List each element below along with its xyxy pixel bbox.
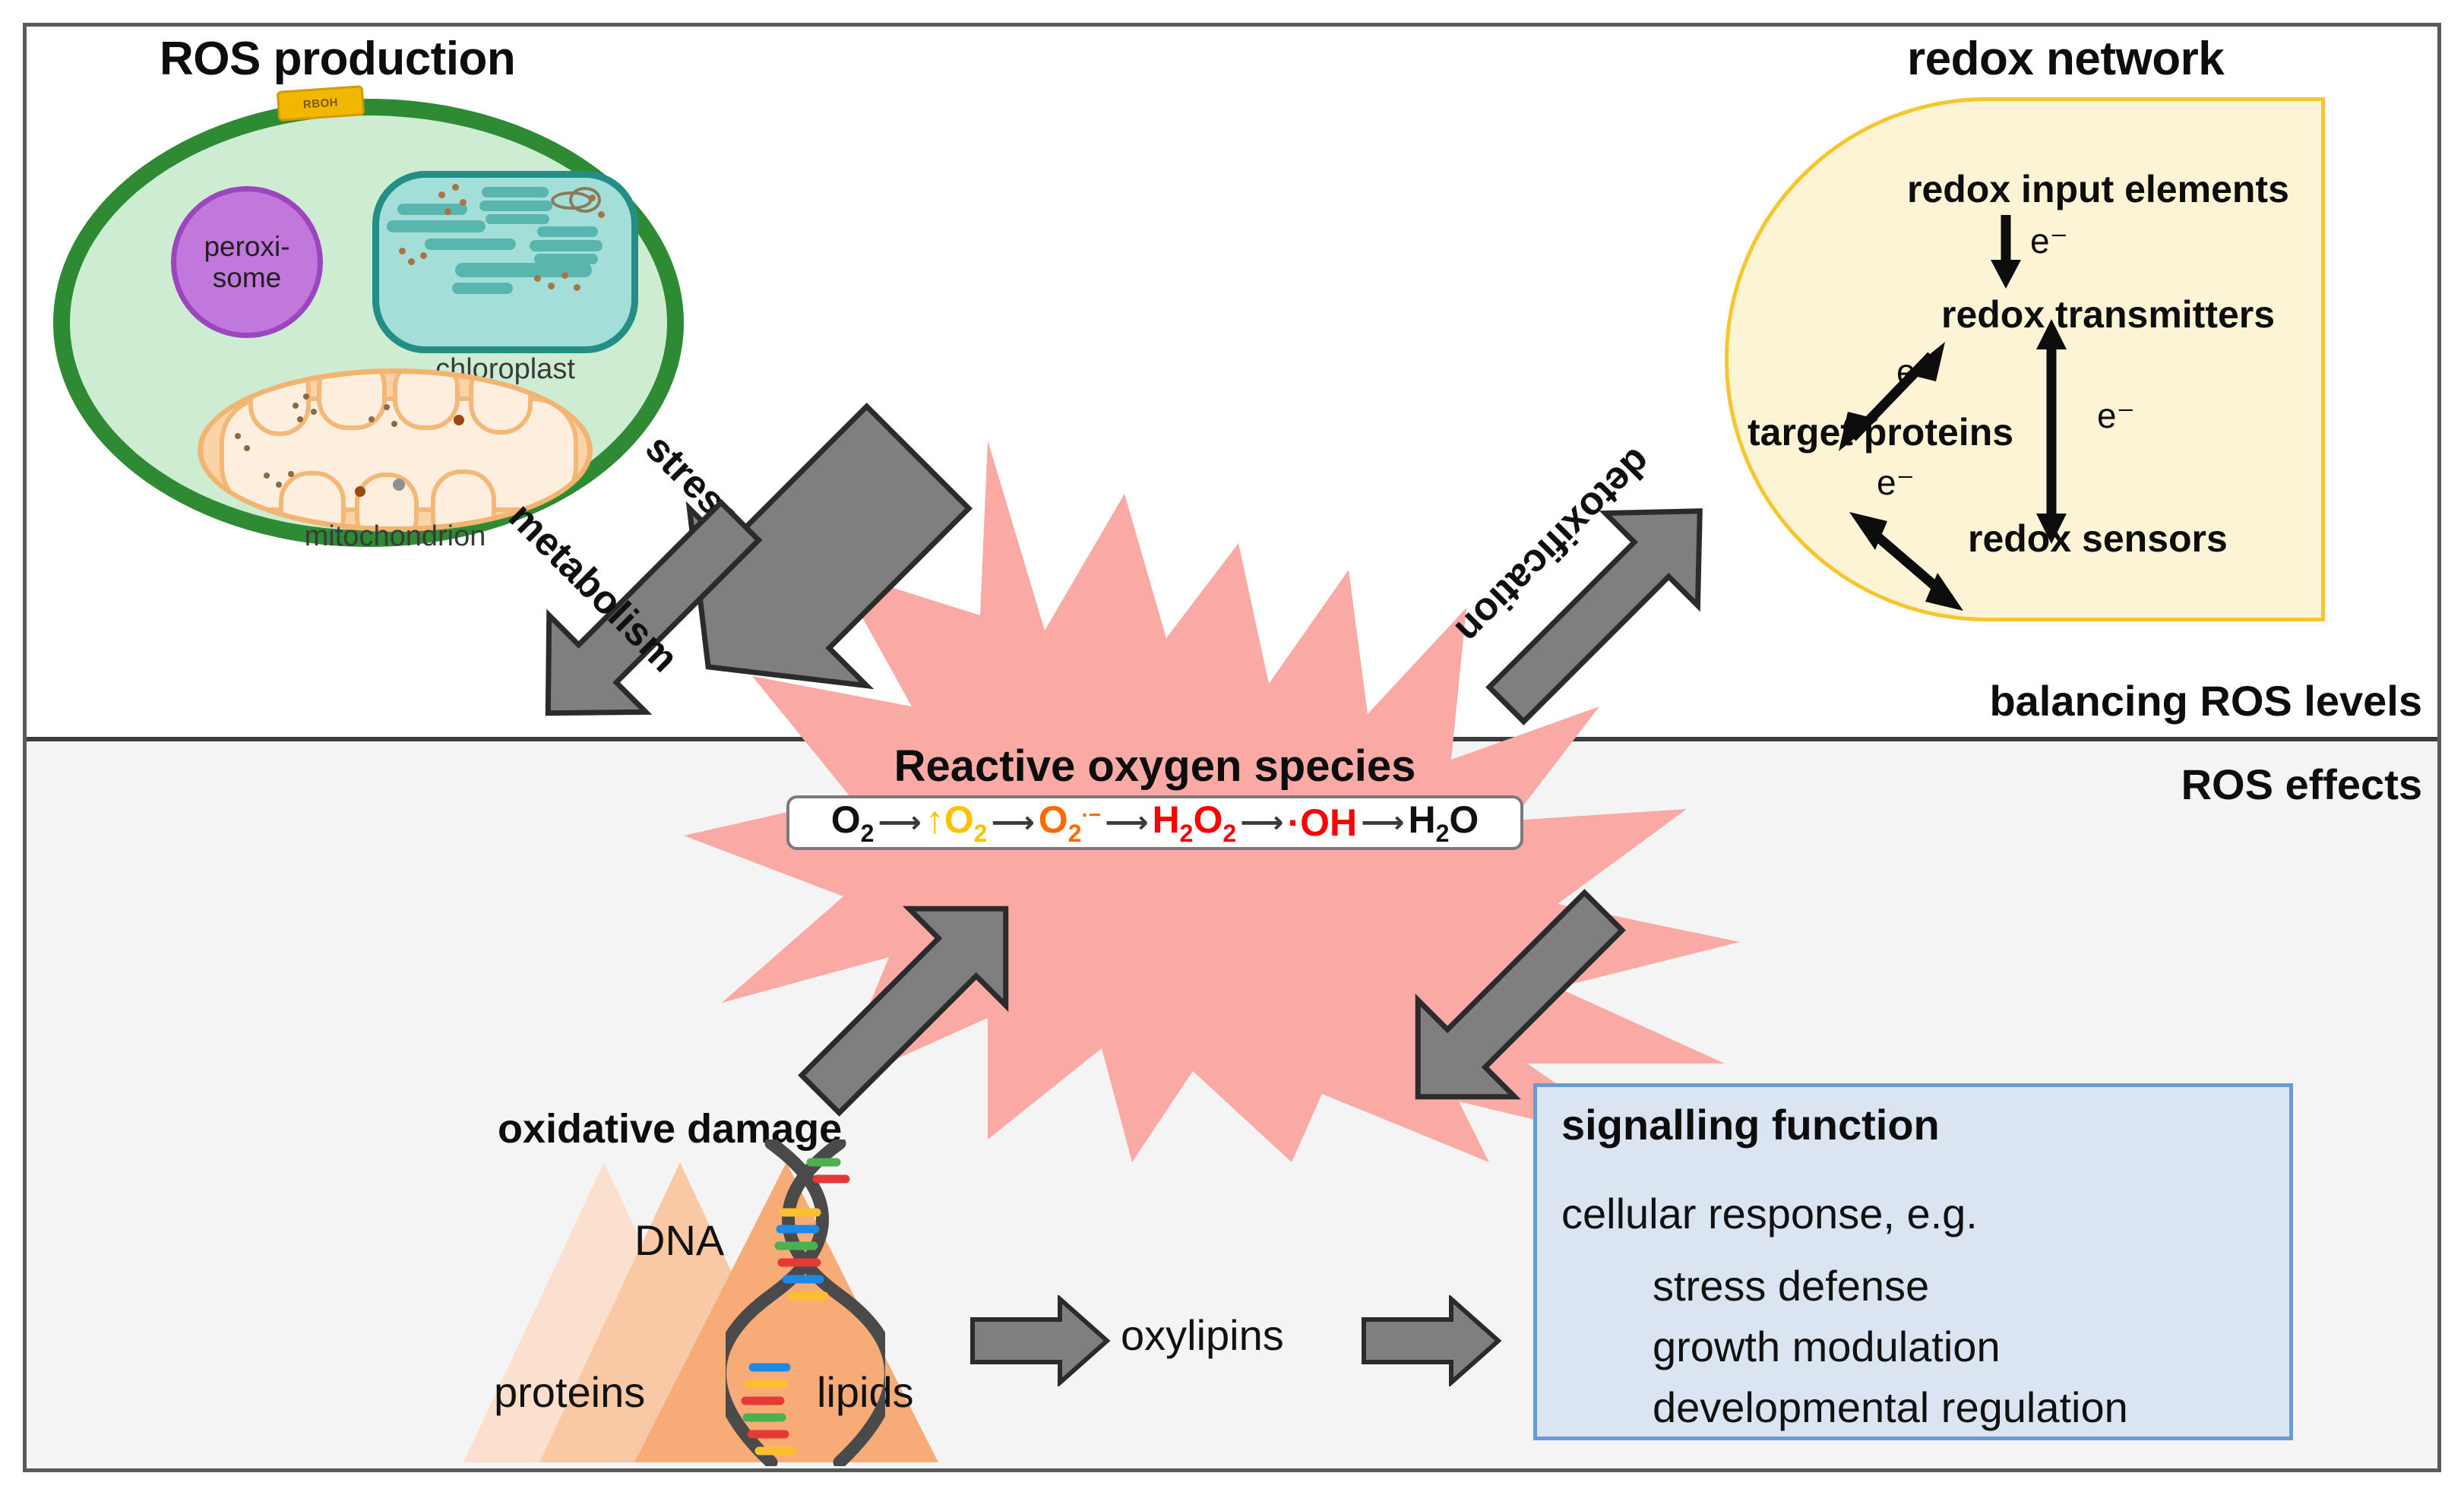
signalling-item-2: developmental regulation xyxy=(1653,1383,2128,1432)
species-h2o2: H2O2 xyxy=(1153,798,1237,848)
species-hydroxyl: ·OH xyxy=(1287,801,1357,845)
heading-redox-network: redox network xyxy=(1907,32,2224,86)
eq-arrow-4: ⟶ xyxy=(1236,805,1287,840)
peroxisome-organelle: peroxi- some xyxy=(171,186,323,338)
signalling-function-title: signalling function xyxy=(1561,1100,1940,1149)
species-superoxide: O2·− xyxy=(1039,798,1101,848)
heading-ros-production: ROS production xyxy=(160,32,515,86)
target-proteins-label: target proteins xyxy=(1748,410,2013,454)
cellular-response-lead: cellular response, e.g. xyxy=(1561,1189,1978,1238)
eq-arrow-5: ⟶ xyxy=(1357,805,1408,840)
peroxisome-label-line1: peroxi- xyxy=(204,231,289,262)
species-water: H2O xyxy=(1408,798,1479,848)
ros-equation: O2⟶↑O2⟶O2·−⟶H2O2⟶·OH⟶H2O xyxy=(786,795,1523,850)
label-balancing-ros-levels: balancing ROS levels xyxy=(1989,676,2422,725)
redox-transmitters-label: redox transmitters xyxy=(1941,292,2275,337)
ros-title: Reactive oxygen species xyxy=(760,741,1550,792)
eq-arrow-1: ⟶ xyxy=(874,805,925,840)
signalling-item-0: stress defense xyxy=(1653,1261,1929,1310)
peroxisome-label-line2: some xyxy=(213,262,281,293)
figure-canvas: ROS production redox network balancing R… xyxy=(0,0,2464,1495)
dna-helix-icon xyxy=(726,1139,885,1466)
species-singlet-o2: ↑O2 xyxy=(925,798,988,848)
rboh-enzyme-label: RBOH xyxy=(277,85,365,122)
triangle-dna-label: DNA xyxy=(634,1215,724,1265)
triangle-proteins-label: proteins xyxy=(494,1367,645,1417)
redox-sensors-label: redox sensors xyxy=(1968,517,2228,561)
chloroplast-organelle xyxy=(372,171,638,353)
eq-arrow-3: ⟶ xyxy=(1101,805,1152,840)
label-ros-effects: ROS effects xyxy=(2181,760,2422,809)
electron-label-right: e⁻ xyxy=(2097,395,2135,436)
electron-label-left: e⁻ xyxy=(1896,351,1934,392)
arrow-to-oxylipins xyxy=(969,1295,1113,1386)
arrow-oxylipins-to-signalling xyxy=(1360,1295,1504,1386)
redox-input-elements-label: redox input elements xyxy=(1907,167,2289,211)
eq-arrow-2: ⟶ xyxy=(987,805,1038,840)
electron-label-bottom: e⁻ xyxy=(1877,462,1915,503)
oxylipins-label: oxylipins xyxy=(1121,1310,1284,1360)
signalling-item-1: growth modulation xyxy=(1653,1322,2001,1371)
electron-label-top: e⁻ xyxy=(2030,220,2068,261)
species-o2: O2 xyxy=(831,798,875,848)
